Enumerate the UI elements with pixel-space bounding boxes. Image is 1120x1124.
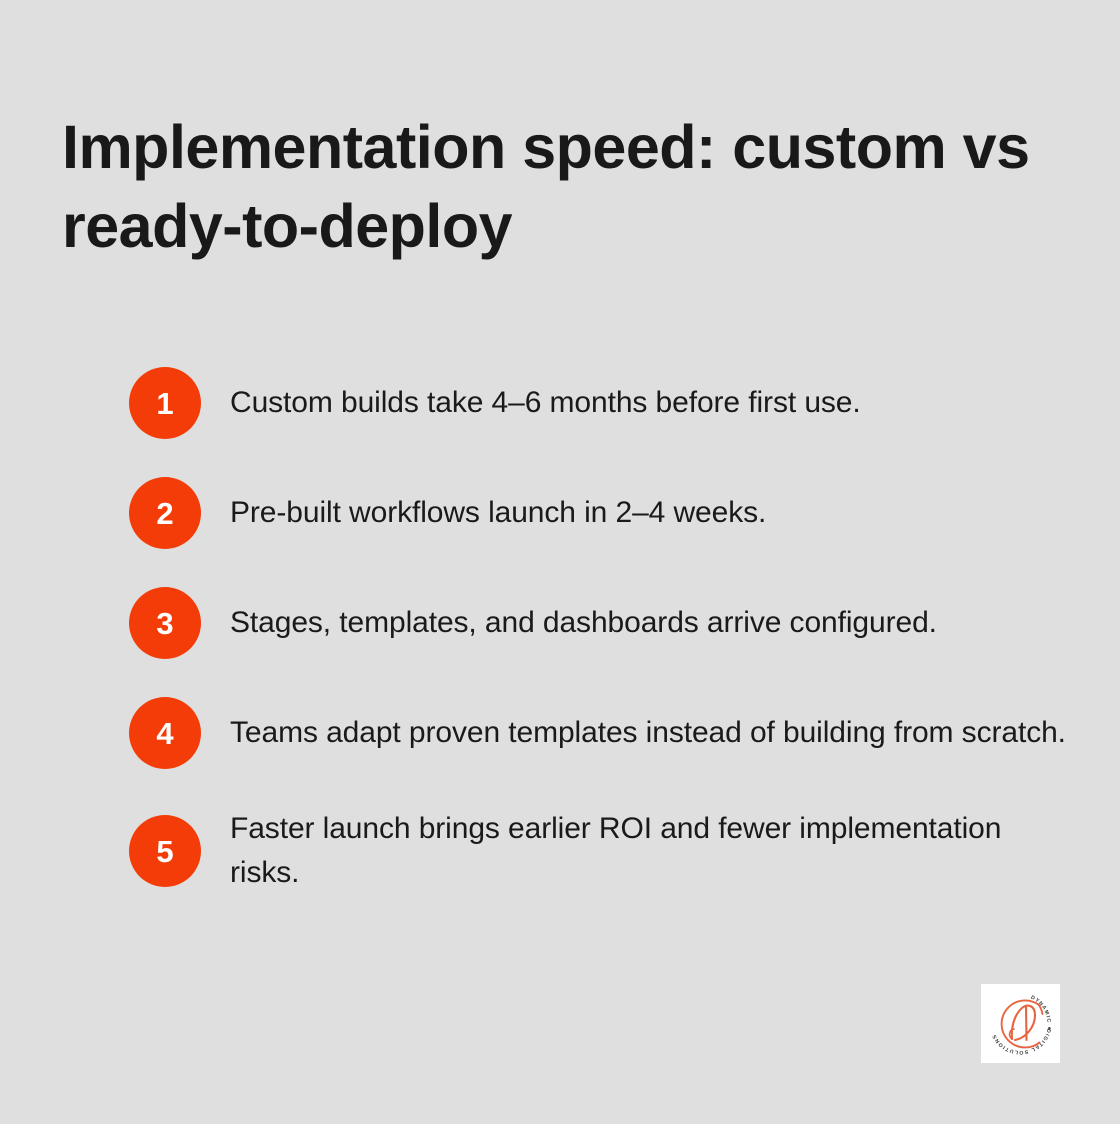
brand-logo: DYNAMIC DIGITAL SOLUTIONS — [981, 984, 1060, 1063]
list-item-text: Teams adapt proven templates instead of … — [230, 711, 1069, 755]
list-item-text: Custom builds take 4–6 months before fir… — [230, 381, 1069, 425]
list-number-badge: 4 — [129, 697, 201, 769]
numbered-list: 1 Custom builds take 4–6 months before f… — [129, 367, 1069, 895]
list-number-badge: 2 — [129, 477, 201, 549]
list-item-text: Pre-built workflows launch in 2–4 weeks. — [230, 491, 1069, 535]
infographic-canvas: Implementation speed: custom vs ready-to… — [0, 0, 1120, 1124]
list-item-text: Faster launch brings earlier ROI and few… — [230, 807, 1069, 895]
page-title: Implementation speed: custom vs ready-to… — [62, 108, 1072, 266]
list-item: 4 Teams adapt proven templates instead o… — [129, 697, 1069, 769]
list-item-text: Stages, templates, and dashboards arrive… — [230, 601, 1069, 645]
title-block: Implementation speed: custom vs ready-to… — [62, 108, 1072, 266]
list-item: 2 Pre-built workflows launch in 2–4 week… — [129, 477, 1069, 549]
list-number-badge: 1 — [129, 367, 201, 439]
list-number-badge: 3 — [129, 587, 201, 659]
list-item: 3 Stages, templates, and dashboards arri… — [129, 587, 1069, 659]
list-item: 5 Faster launch brings earlier ROI and f… — [129, 807, 1069, 895]
dynamic-digital-solutions-logo-icon: DYNAMIC DIGITAL SOLUTIONS — [981, 984, 1060, 1063]
list-number-badge: 5 — [129, 815, 201, 887]
list-item: 1 Custom builds take 4–6 months before f… — [129, 367, 1069, 439]
